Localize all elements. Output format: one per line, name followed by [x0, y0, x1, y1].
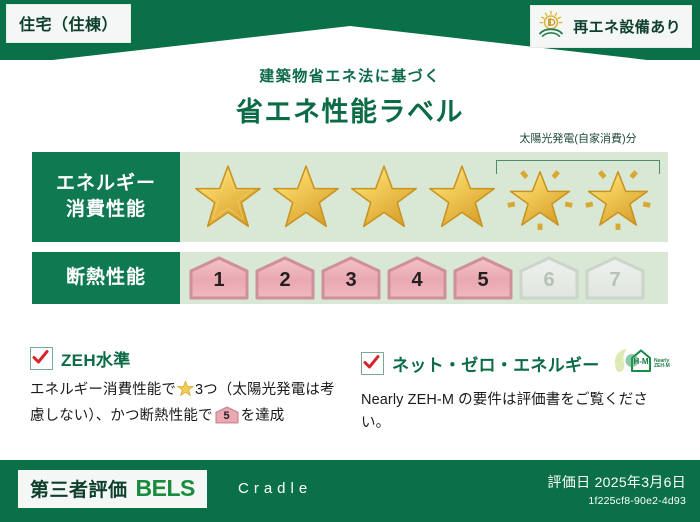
solar-bracket-label: 太陽光発電(自家消費)分 — [496, 130, 660, 146]
insulation-level-4: 4 — [386, 256, 448, 300]
inline-house-icon: 5 — [215, 406, 239, 424]
svg-text:ZEH-M: ZEH-M — [654, 363, 670, 369]
insulation-level-6-number: 6 — [518, 270, 580, 290]
cradle-label: Cradle — [238, 480, 312, 497]
footer-band: 第三者評価 BELS Cradle 評価日 2025年3月6日 1f225cf8… — [0, 460, 700, 522]
insulation-level-1: 1 — [188, 256, 250, 300]
insulation-performance-row: 断熱性能 — [32, 252, 668, 304]
note-zeh-body-post: を達成 — [241, 408, 285, 424]
insulation-level-7: 7 — [584, 256, 646, 300]
note-zeh-standard-header: ZEH水準 — [30, 346, 339, 371]
svg-text:H-M: H-M — [633, 357, 648, 366]
energy-performance-label: エネルギー 消費性能 — [32, 152, 180, 242]
houses-container: 1 2 3 — [180, 252, 668, 304]
star-rating-3 — [346, 158, 422, 236]
solar-bracket-text: 太陽光発電(自家消費)分 — [496, 130, 660, 146]
bels-badge: 第三者評価 BELS — [18, 470, 207, 508]
evaluation-date: 評価日 2025年3月6日 — [547, 472, 686, 492]
title-block: 建築物省エネ法に基づく 省エネ性能ラベル — [0, 65, 700, 129]
insulation-level-1-number: 1 — [188, 270, 250, 290]
title-subtitle: 建築物省エネ法に基づく — [0, 65, 700, 86]
insulation-level-3: 3 — [320, 256, 382, 300]
insulation-level-5: 5 — [452, 256, 514, 300]
title-main: 省エネ性能ラベル — [0, 90, 700, 129]
building-type-tag: 住宅（住棟） — [6, 4, 131, 43]
note-net-zero-energy-body: Nearly ZEH-M の要件は評価書をご覧ください。 — [361, 389, 670, 436]
energy-performance-label: 住宅（住棟） 再エネ設備あり — [0, 0, 700, 522]
inline-house-number: 5 — [215, 411, 239, 422]
footer-meta: 評価日 2025年3月6日 1f225cf8-90e2-4d93 — [547, 472, 686, 507]
star-rating-4 — [424, 158, 500, 236]
inline-star-icon — [177, 385, 194, 401]
note-net-zero-energy-header: ネット・ゼロ・エネルギー H-M Nearly ZEH-M — [361, 346, 670, 381]
energy-label-line2: 消費性能 — [56, 197, 156, 223]
insulation-level-3-number: 3 — [320, 270, 382, 290]
note-zeh-standard-body: エネルギー消費性能で3つ（太陽光発電は考慮しない）、かつ断熱性能で5を達成 — [30, 379, 339, 429]
note-zeh-body-pre: エネルギー消費性能で — [30, 382, 176, 398]
sun-over-hill-icon — [537, 10, 567, 43]
bels-en-label: BELS — [136, 475, 195, 502]
evaluation-id: 1f225cf8-90e2-4d93 — [547, 495, 686, 507]
insulation-performance-label: 断熱性能 — [32, 252, 180, 304]
insulation-level-2: 2 — [254, 256, 316, 300]
star-rating-2 — [268, 158, 344, 236]
note-zeh-standard-title: ZEH水準 — [61, 346, 131, 371]
building-type-label: 住宅（住棟） — [19, 17, 118, 34]
star-rating-1 — [190, 158, 266, 236]
energy-performance-value: 太陽光発電(自家消費)分 — [180, 152, 668, 242]
note-net-zero-energy-title: ネット・ゼロ・エネルギー — [392, 351, 600, 376]
renewable-energy-tag: 再エネ設備あり — [530, 5, 692, 48]
insulation-level-7-number: 7 — [584, 270, 646, 290]
energy-label-line1: エネルギー — [56, 171, 156, 197]
solar-bracket-line — [496, 160, 660, 174]
rating-rows: エネルギー 消費性能 太陽光発電(自家消費)分 — [32, 152, 668, 314]
renewable-energy-label: 再エネ設備あり — [573, 16, 681, 37]
checkbox-checked-icon — [30, 347, 53, 370]
checkbox-checked-icon — [361, 352, 384, 375]
notes-section: ZEH水準 エネルギー消費性能で3つ（太陽光発電は考慮しない）、かつ断熱性能で5… — [30, 346, 670, 436]
nearly-zeh-m-icon: H-M Nearly ZEH-M — [612, 346, 670, 381]
insulation-level-4-number: 4 — [386, 270, 448, 290]
bels-jp-label: 第三者評価 — [30, 475, 128, 502]
insulation-performance-value: 1 2 3 — [180, 252, 668, 304]
insulation-level-5-number: 5 — [452, 270, 514, 290]
insulation-level-6: 6 — [518, 256, 580, 300]
insulation-level-2-number: 2 — [254, 270, 316, 290]
energy-performance-row: エネルギー 消費性能 太陽光発電(自家消費)分 — [32, 152, 668, 242]
label-body: 建築物省エネ法に基づく 省エネ性能ラベル エネルギー 消費性能 太陽光発電(自家… — [0, 60, 700, 460]
note-net-zero-energy: ネット・ゼロ・エネルギー H-M Nearly ZEH-M Nearly ZEH… — [361, 346, 670, 436]
note-zeh-standard: ZEH水準 エネルギー消費性能で3つ（太陽光発電は考慮しない）、かつ断熱性能で5… — [30, 346, 339, 436]
